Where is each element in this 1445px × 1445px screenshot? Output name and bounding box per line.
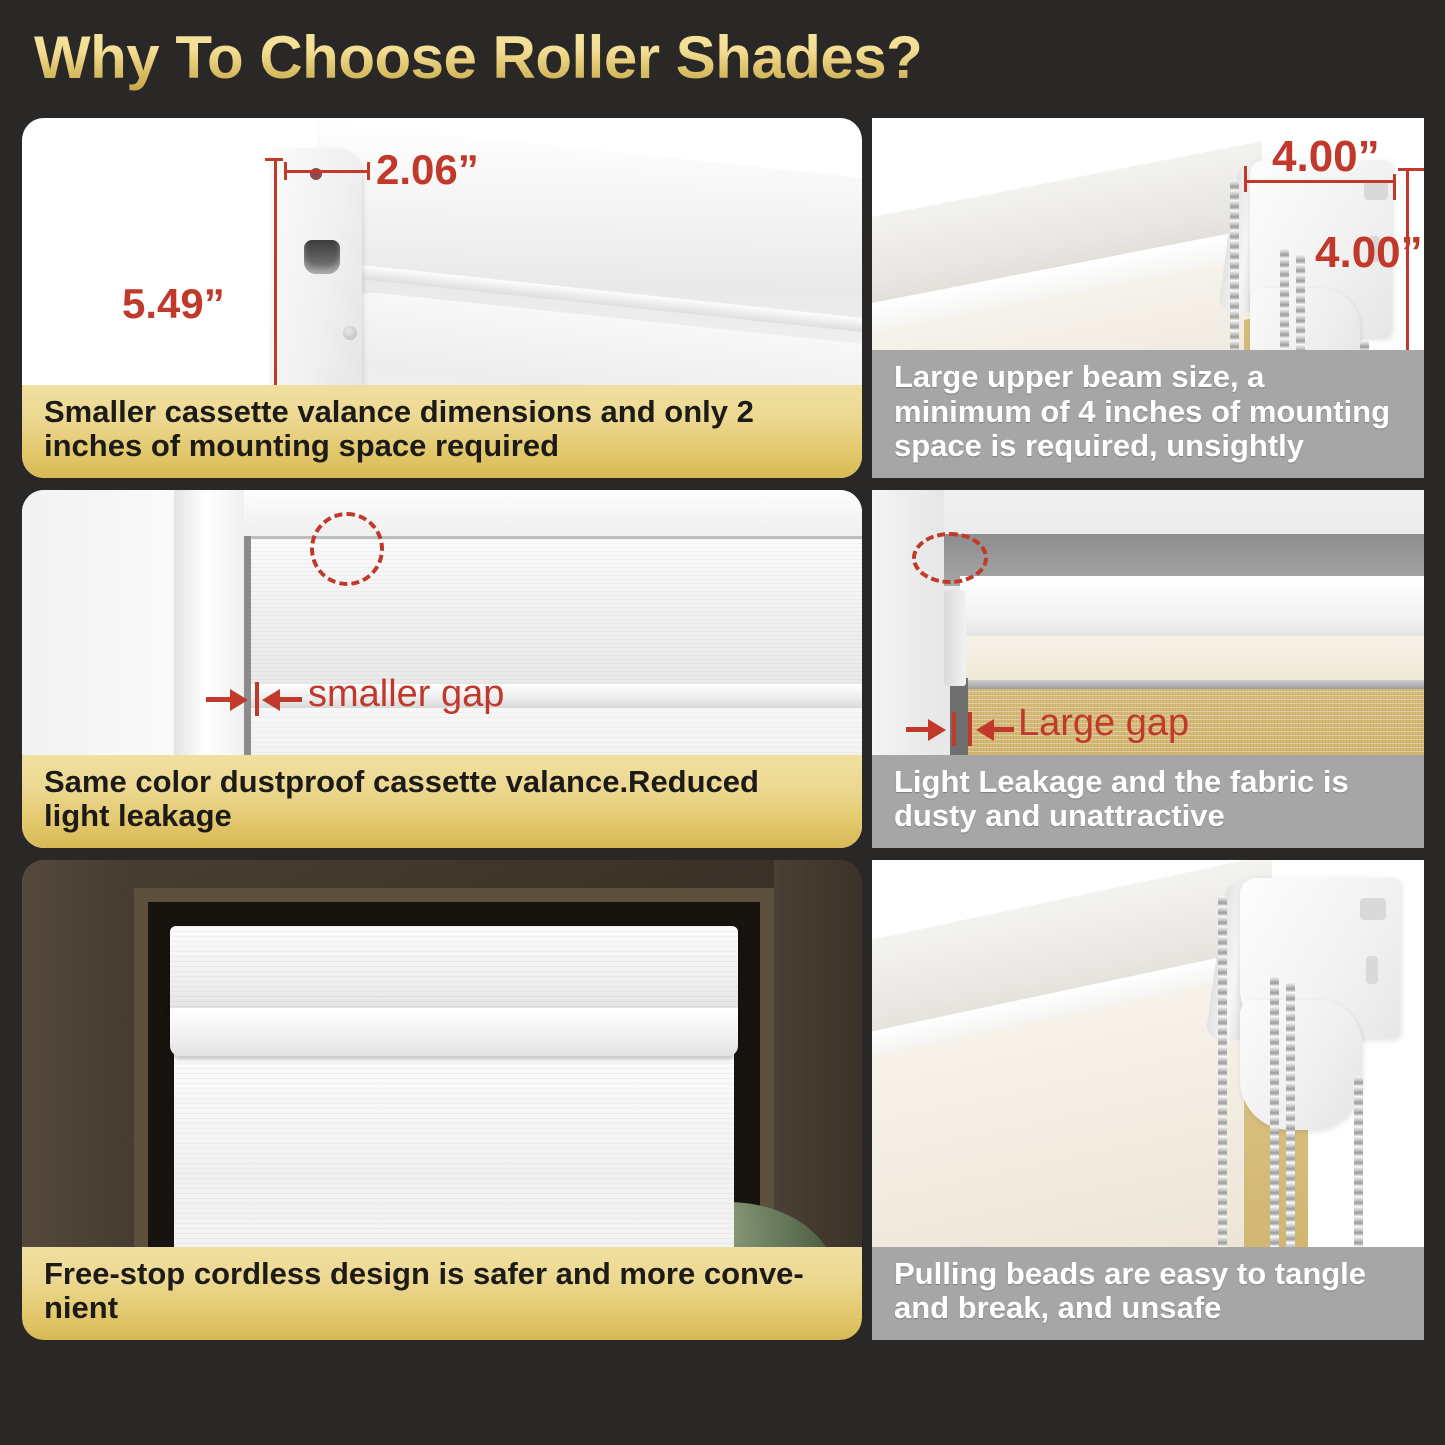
valance-front-shape (960, 576, 1424, 642)
width-dimension-line (284, 170, 370, 173)
caption-line: nient (44, 1291, 844, 1326)
bracket-notch-icon (1360, 898, 1386, 920)
page-title: Why To Choose Roller Shades? (34, 18, 1234, 96)
gap-tick-icon (255, 682, 259, 716)
height-dimension-label: 5.49” (122, 280, 225, 328)
panel-smaller-gap: smaller gap Same color dustproof cassett… (22, 490, 862, 848)
caption-cordless-design: Free-stop cordless design is safer and m… (22, 1247, 862, 1340)
gap-arrow-tail-right (278, 697, 302, 702)
caption-smaller-gap: Same color dustproof cassette valance.Re… (22, 755, 862, 848)
shade-valance-lower-shape (170, 1008, 738, 1056)
width-dimension-label: 4.00” (1272, 132, 1380, 182)
caption-bead-chains: Pulling beads are easy to tangle and bre… (872, 1247, 1424, 1340)
page-title-text: Why To Choose Roller Shades? (34, 23, 922, 92)
height-dimension-cap-top (1398, 168, 1424, 171)
gap-tick-icon (968, 712, 972, 746)
panel-bead-chains: Pulling beads are easy to tangle and bre… (872, 860, 1424, 1340)
smaller-gap-label: smaller gap (308, 673, 504, 716)
gap-arrow-left-icon (928, 719, 946, 741)
caption-line: dusty and unattractive (894, 799, 1406, 834)
gap-arrow-left-icon (230, 689, 248, 711)
shade-cassette-valance-shape (170, 926, 738, 1012)
caption-line: inches of mounting space required (44, 429, 844, 464)
caption-line: minimum of 4 inches of mounting (894, 395, 1406, 430)
width-dimension-cap-right (367, 162, 370, 180)
cassette-screw-upper-icon (343, 326, 357, 340)
caption-cassette-dimensions: Smaller cassette valance dimensions and … (22, 385, 862, 478)
panel-cassette-dimensions: 5.49” 2.06” Smaller cassette valance dim… (22, 118, 862, 478)
infographic-page: Why To Choose Roller Shades? 5.49” 2.06”… (0, 0, 1445, 1445)
width-dimension-cap-left (284, 162, 287, 180)
gap-arrow-tail-left (906, 727, 930, 732)
panel-cordless-window: Free-stop cordless design is safer and m… (22, 860, 862, 1340)
bracket-lower-shape (1240, 1000, 1362, 1130)
panel-large-gap: Large gap Light Leakage and the fabric i… (872, 490, 1424, 848)
width-dimension-cap-left (1244, 166, 1247, 192)
caption-line: Light Leakage and the fabric is (894, 765, 1406, 800)
highlight-circle-icon (912, 532, 988, 584)
cassette-slot-shape (304, 240, 340, 274)
caption-large-gap: Light Leakage and the fabric is dusty an… (872, 755, 1424, 848)
height-dimension-label: 4.00” (1315, 228, 1423, 278)
height-dimension-cap-top (265, 158, 283, 161)
bracket-slot-icon (1366, 956, 1378, 984)
highlight-circle-icon (310, 512, 384, 586)
large-gap-label: Large gap (1018, 702, 1189, 745)
caption-line: Smaller cassette valance dimensions and … (44, 395, 844, 430)
gap-tick-icon (952, 712, 956, 746)
caption-line: and break, and unsafe (894, 1291, 1406, 1326)
caption-large-beam: Large upper beam size, a minimum of 4 in… (872, 350, 1424, 478)
beam-bracket-notch-icon (1364, 180, 1388, 200)
valance-rail-shape (960, 680, 1424, 689)
valance-cream-band-shape (960, 636, 1424, 684)
gap-arrow-tail-right (992, 727, 1014, 732)
caption-line: Free-stop cordless design is safer and m… (44, 1257, 844, 1292)
width-dimension-cap-right (1393, 174, 1396, 200)
caption-line: space is required, unsightly (894, 429, 1406, 464)
caption-line: Pulling beads are easy to tangle (894, 1257, 1406, 1292)
width-dimension-label: 2.06” (376, 146, 479, 194)
panel-large-beam-dimensions: 4.00” 4.00” Large upper beam size, a min… (872, 118, 1424, 478)
window-frame-top-shape (174, 490, 862, 538)
caption-line: Large upper beam size, a (894, 360, 1406, 395)
caption-line: Same color dustproof cassette valance.Re… (44, 765, 844, 800)
gap-arrow-tail-left (206, 697, 232, 702)
valance-hook-shape (944, 590, 966, 686)
caption-line: light leakage (44, 799, 844, 834)
